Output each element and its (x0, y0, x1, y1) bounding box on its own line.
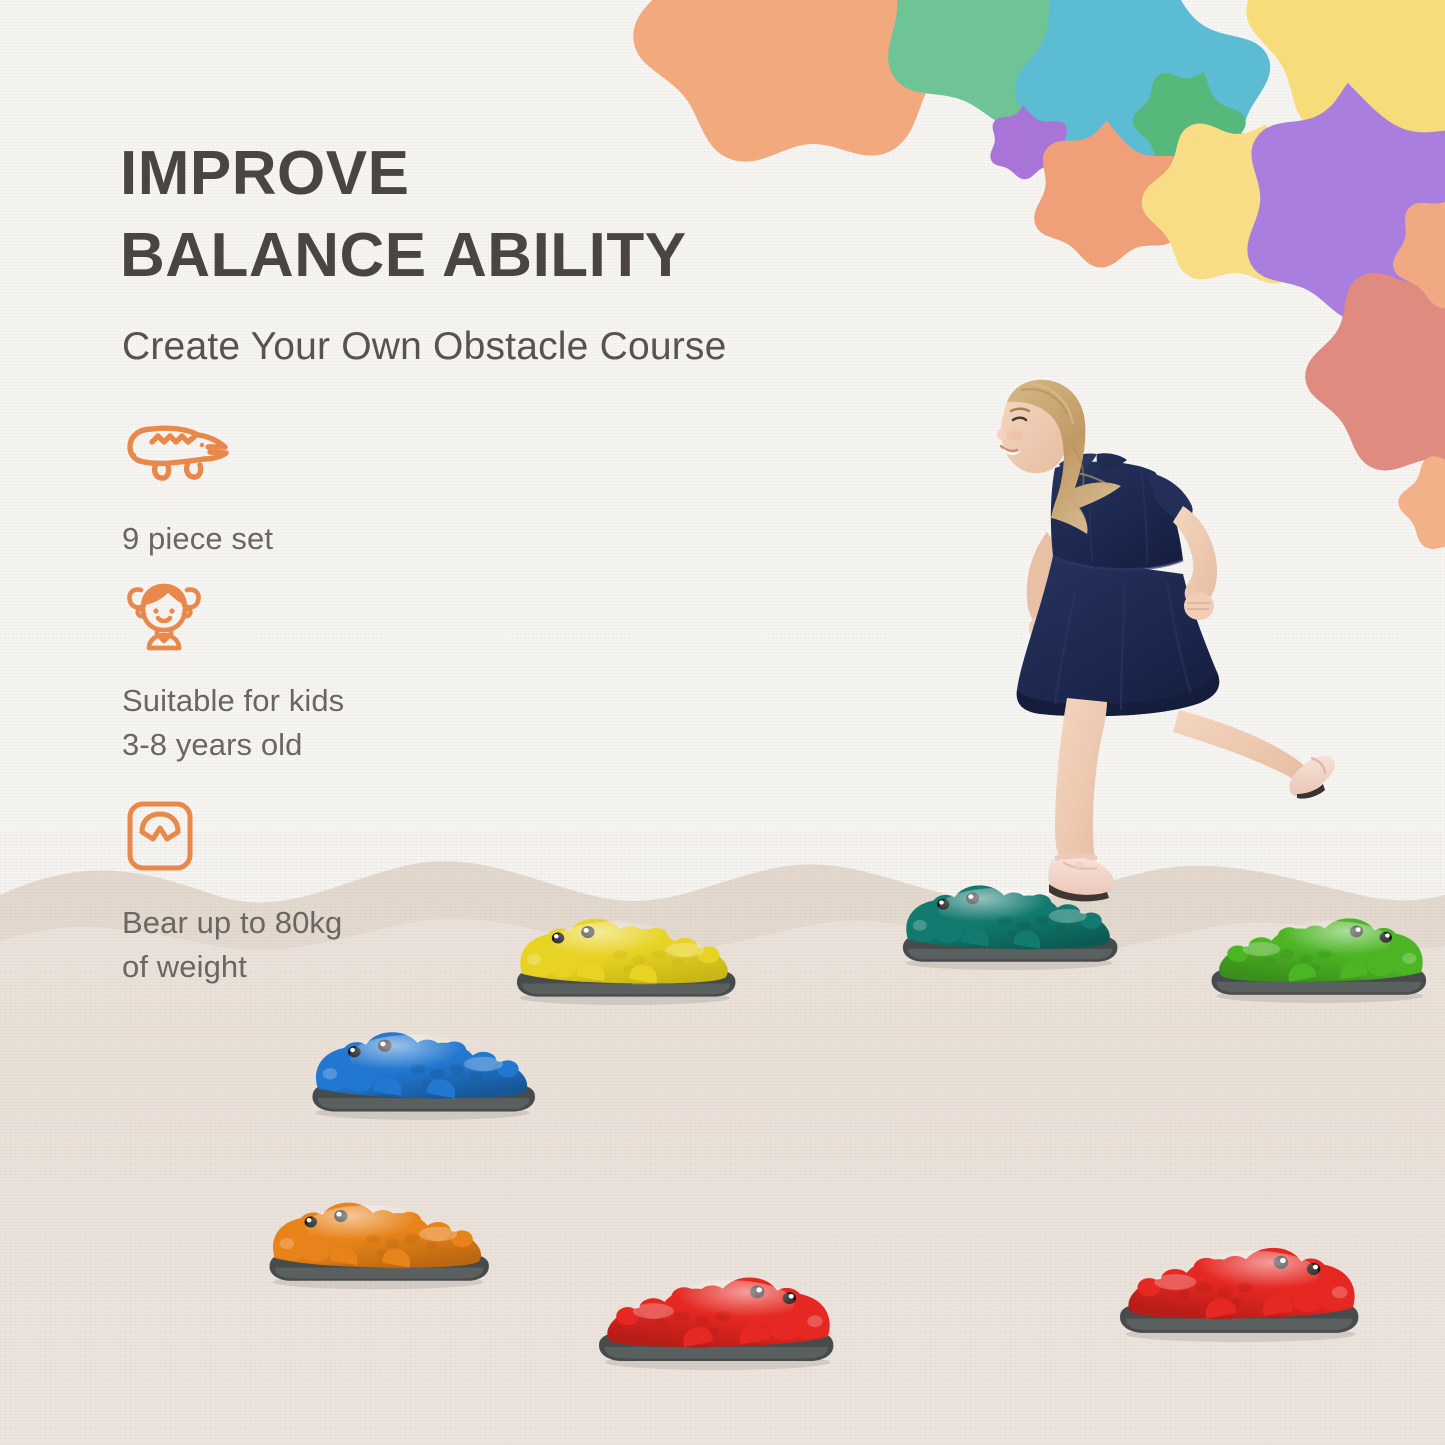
feature-label: 9 piece set (122, 517, 273, 561)
subheadline: Create Your Own Obstacle Course (122, 325, 727, 369)
stone-orange-shape (258, 1178, 498, 1290)
weight-scale-icon (122, 798, 342, 879)
feature-item-piece-count: 9 piece set (122, 420, 273, 561)
feature-label: Suitable for kids 3-8 years old (122, 679, 344, 767)
girl-face-icon (122, 578, 344, 659)
promo-image-canvas: IMPROVE BALANCE ABILITY Create Your Own … (0, 0, 1445, 1445)
stone-red-right (1098, 1222, 1383, 1342)
feature-label: Bear up to 80kg of weight (122, 901, 342, 989)
crocodile-icon (122, 420, 273, 491)
stone-orange (258, 1178, 498, 1290)
stone-green (1195, 895, 1445, 1003)
running-girl (955, 360, 1365, 920)
stone-blue (300, 1008, 545, 1120)
headline-line-2: BALANCE ABILITY (120, 215, 687, 297)
headline-line-1: IMPROVE (120, 133, 687, 215)
stone-red-left (580, 1252, 855, 1370)
page-title: IMPROVE BALANCE ABILITY (120, 133, 687, 297)
stone-teal-shape (875, 862, 1143, 970)
stone-green-shape (1195, 895, 1445, 1003)
stone-yellow-shape (505, 895, 745, 1005)
stone-teal (875, 862, 1143, 970)
stone-red-left-shape (580, 1252, 855, 1370)
stone-blue-shape (300, 1008, 545, 1120)
stone-red-right-shape (1098, 1222, 1383, 1342)
feature-item-age-range: Suitable for kids 3-8 years old (122, 578, 344, 767)
feature-item-weight-capacity: Bear up to 80kg of weight (122, 798, 342, 989)
stone-yellow (505, 895, 745, 1005)
